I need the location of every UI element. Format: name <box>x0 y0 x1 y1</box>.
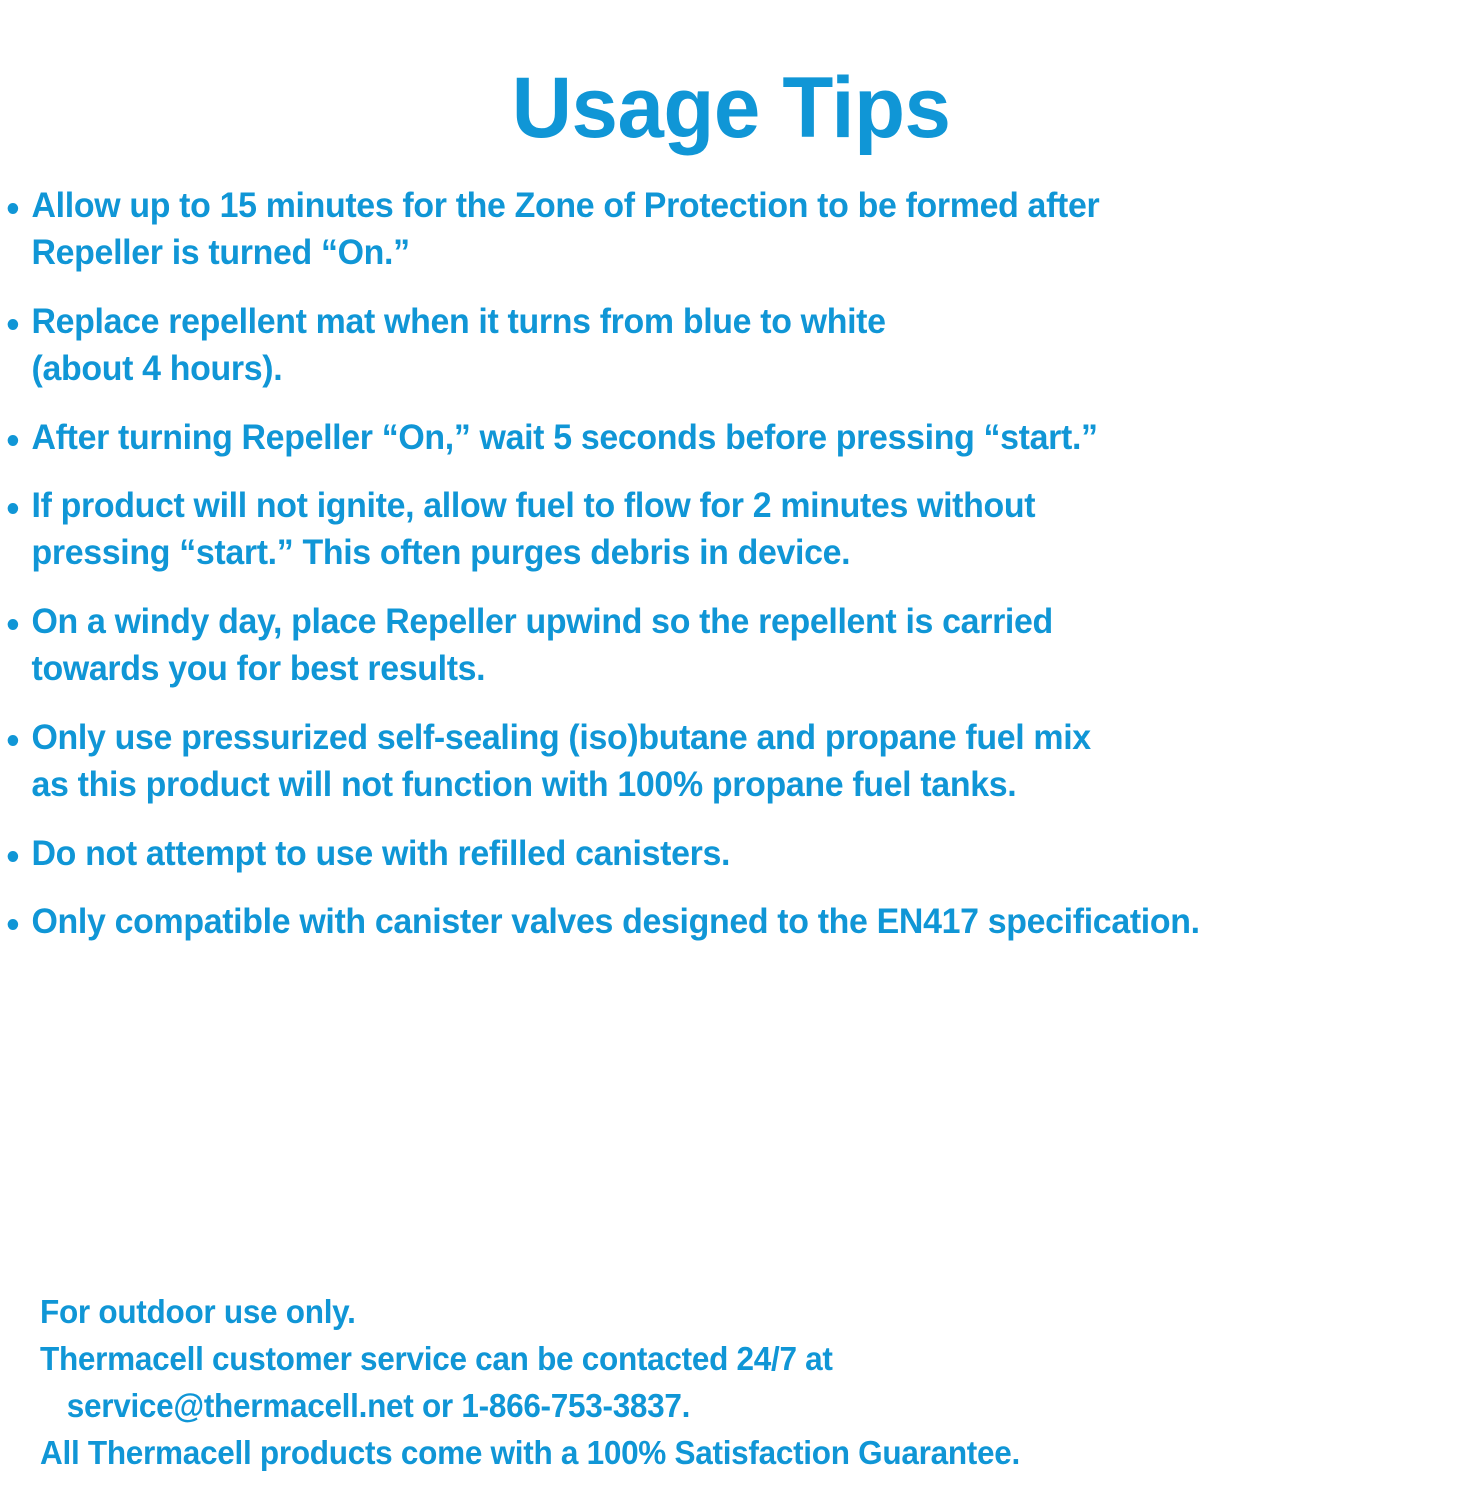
usage-tip-line: Replace repellent mat when it turns from… <box>32 298 1397 345</box>
usage-tip-line: Allow up to 15 minutes for the Zone of P… <box>32 182 1397 229</box>
usage-tip-line: Only use pressurized self-sealing (iso)b… <box>32 714 1397 761</box>
usage-tip-zone-of-protection-time: Allow up to 15 minutes for the Zone of P… <box>0 182 1396 276</box>
bullet-icon <box>8 435 19 446</box>
footer-line: Thermacell customer service can be conta… <box>40 1335 1020 1382</box>
usage-tip-wait-before-start: After turning Repeller “On,” wait 5 seco… <box>0 414 1396 461</box>
usage-tip-line: pressing “start.” This often purges debr… <box>32 529 1397 576</box>
bullet-icon <box>8 735 19 746</box>
usage-tip-no-refilled-canisters: Do not attempt to use with refilled cani… <box>0 830 1396 877</box>
usage-tip-replace-mat: Replace repellent mat when it turns from… <box>0 298 1396 392</box>
usage-tip-line: Do not attempt to use with refilled cani… <box>32 830 1397 877</box>
usage-tip-line: towards you for best results. <box>32 645 1397 692</box>
usage-tip-fuel-type: Only use pressurized self-sealing (iso)b… <box>0 714 1396 808</box>
page-title: Usage Tips <box>512 60 951 156</box>
usage-tip-line: as this product will not function with 1… <box>32 761 1397 808</box>
footer-line: service@thermacell.net or 1-866-753-3837… <box>40 1382 1020 1429</box>
bullet-icon <box>8 619 19 630</box>
bullet-icon <box>8 919 19 930</box>
usage-tip-windy-day-placement: On a windy day, place Repeller upwind so… <box>0 598 1396 692</box>
bullet-icon <box>8 319 19 330</box>
usage-tip-line: If product will not ignite, allow fuel t… <box>32 482 1397 529</box>
footer-line: All Thermacell products come with a 100%… <box>40 1429 1020 1476</box>
usage-tips-list: Allow up to 15 minutes for the Zone of P… <box>0 182 1462 966</box>
usage-tip-line: Repeller is turned “On.” <box>32 229 1397 276</box>
usage-tip-line: (about 4 hours). <box>32 345 1397 392</box>
bullet-icon <box>8 851 19 862</box>
footer-contact-block: For outdoor use only.Thermacell customer… <box>40 1288 1020 1476</box>
bullet-icon <box>8 503 19 514</box>
bullet-icon <box>8 203 19 214</box>
usage-tip-line: Only compatible with canister valves des… <box>32 898 1397 945</box>
usage-tips-page: Usage Tips Allow up to 15 minutes for th… <box>0 0 1462 1500</box>
usage-tip-en417-valves: Only compatible with canister valves des… <box>0 898 1396 945</box>
usage-tip-ignition-troubleshooting: If product will not ignite, allow fuel t… <box>0 482 1396 576</box>
usage-tip-line: After turning Repeller “On,” wait 5 seco… <box>32 414 1397 461</box>
footer-line: For outdoor use only. <box>40 1288 1020 1335</box>
usage-tip-line: On a windy day, place Repeller upwind so… <box>32 598 1397 645</box>
